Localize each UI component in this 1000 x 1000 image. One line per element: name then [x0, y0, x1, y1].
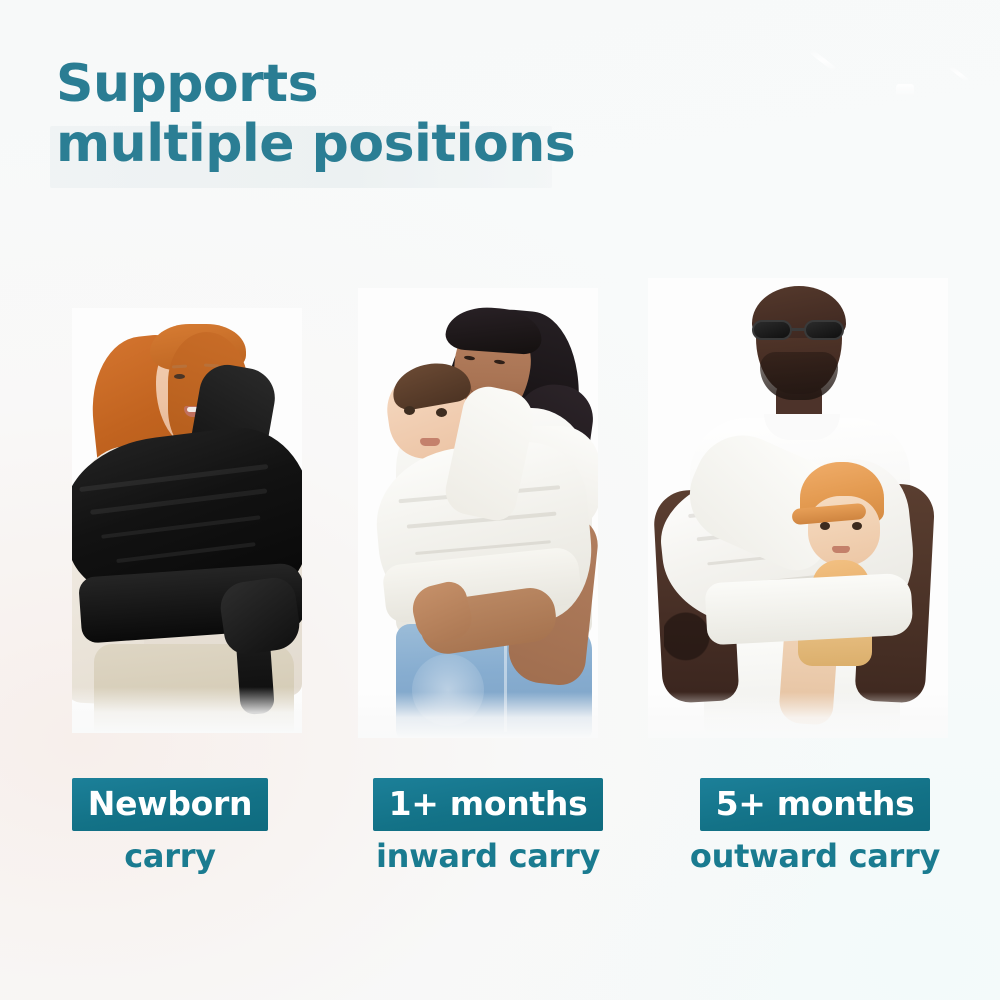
baby-eye-shape	[820, 522, 830, 530]
photo-newborn-carry	[72, 308, 302, 733]
badge-newborn: Newborn	[72, 778, 268, 831]
headline-line-2: multiple positions	[56, 114, 676, 174]
baby-mouth-shape	[832, 546, 850, 553]
sunglasses-lens-left	[752, 320, 792, 340]
caption-inward-carry: 1+ months inward carry	[372, 778, 604, 875]
baby-eye-shape	[436, 408, 447, 417]
caption-newborn-carry: Newborn carry	[64, 778, 276, 875]
caption-sub-inward: inward carry	[372, 837, 604, 875]
denim-seam	[504, 632, 507, 732]
fabric-fold	[101, 515, 260, 538]
position-photo-row	[0, 268, 1000, 738]
sunglasses-lens-right	[804, 320, 844, 340]
caption-sub-outward: outward carry	[682, 837, 948, 875]
denim-highlight	[412, 654, 484, 726]
caption-outward-carry: 5+ months outward carry	[682, 778, 948, 875]
caption-sub-newborn: carry	[64, 837, 276, 875]
sunglasses-icon	[752, 320, 848, 340]
eye-shape	[174, 374, 185, 379]
headline-line-1: Supports	[56, 54, 676, 114]
position-caption-row: Newborn carry 1+ months inward carry 5+ …	[0, 778, 1000, 898]
light-streak-artifact	[810, 49, 837, 71]
fabric-fold	[79, 464, 268, 492]
photo-outward-carry	[648, 278, 948, 738]
badge-5plus-months: 5+ months	[700, 778, 931, 831]
wrap-waistband-shape	[705, 573, 914, 646]
badge-1plus-months: 1+ months	[373, 778, 604, 831]
fabric-fold	[90, 488, 267, 515]
page-title: Supports multiple positions	[56, 54, 676, 175]
light-streak-artifact	[896, 84, 914, 98]
wrap-knot-shape	[217, 575, 302, 657]
product-feature-poster: Supports multiple positions	[0, 0, 1000, 1000]
baby-eye-shape	[404, 406, 415, 415]
photo-inward-carry	[358, 288, 598, 738]
fabric-fold	[116, 542, 255, 563]
baby-eye-shape	[852, 522, 862, 530]
light-streak-artifact	[949, 66, 969, 83]
baby-mouth-shape	[420, 438, 440, 446]
